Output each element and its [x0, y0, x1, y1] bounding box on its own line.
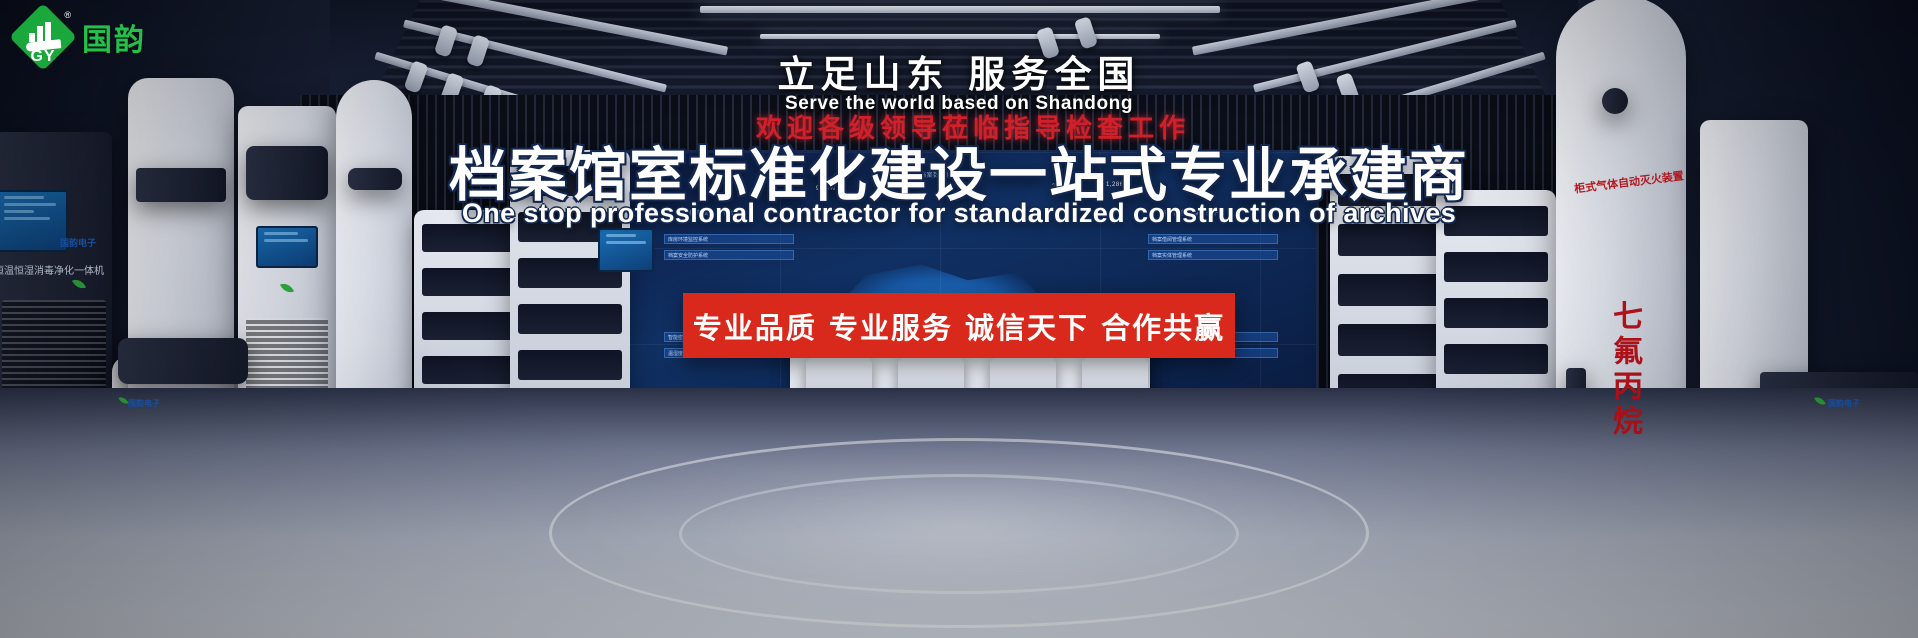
shelf-slot: [1444, 252, 1548, 282]
gy-logo-icon: GY ®: [14, 8, 72, 66]
logo-gy-text: GY: [14, 48, 72, 66]
slogan-banner[interactable]: 专业品质 专业服务 诚信天下 合作共赢: [683, 293, 1235, 358]
shelf-slot: [518, 304, 622, 334]
left-device-brand-label: 国韵电子: [60, 236, 96, 249]
led-panel-row: 档案安全防护系统: [664, 250, 794, 260]
shelf-slot: [1338, 274, 1452, 306]
led-panel-row: 库房环境监控系统: [664, 234, 794, 244]
hero-banner: 数字档案馆管理平台 档案数字化加工平台 档案信息资源共享平台 库房环境监控系统 …: [0, 0, 1918, 638]
left-ahu-screen: [256, 226, 318, 268]
left-trolley: [118, 338, 248, 384]
ceiling-light-bar: [760, 34, 1160, 39]
tagline-chinese: 立足山东 服务全国: [0, 44, 1918, 98]
left-device-model-label: 恒温恒湿消毒净化一体机: [0, 262, 104, 277]
registered-trademark-icon: ®: [64, 10, 71, 20]
left-purifier-brand: 国韵电子: [128, 398, 160, 409]
floor-circle-inner: [679, 474, 1239, 594]
screen-line: [606, 241, 646, 244]
left-wall-display: [598, 228, 654, 272]
brand-name: 国韵: [82, 15, 146, 59]
screen-line: [264, 239, 308, 242]
led-panel-row: 档案实体管理系统: [1148, 250, 1278, 260]
right-device-brand-label: 国韵电子: [1828, 398, 1860, 409]
shelf-slot: [1338, 324, 1452, 356]
shelf-slot: [1444, 298, 1548, 328]
ceiling-light-bar: [700, 6, 1220, 13]
slogan-banner-text: 专业品质 专业服务 诚信天下 合作共赢: [693, 305, 1225, 347]
right-wall-vertical-text: 七氟丙烷: [1604, 300, 1644, 440]
led-panel-row: 档案借阅管理系统: [1148, 234, 1278, 244]
brand-logo[interactable]: GY ® 国韵: [14, 8, 146, 66]
screen-line: [264, 232, 298, 235]
screen-line: [606, 234, 636, 237]
shelf-slot: [1444, 344, 1548, 374]
shelf-slot: [518, 350, 622, 380]
tagline-english: Serve the world based on Shandong: [0, 93, 1918, 115]
headline-english: One stop professional contractor for sta…: [0, 198, 1918, 229]
